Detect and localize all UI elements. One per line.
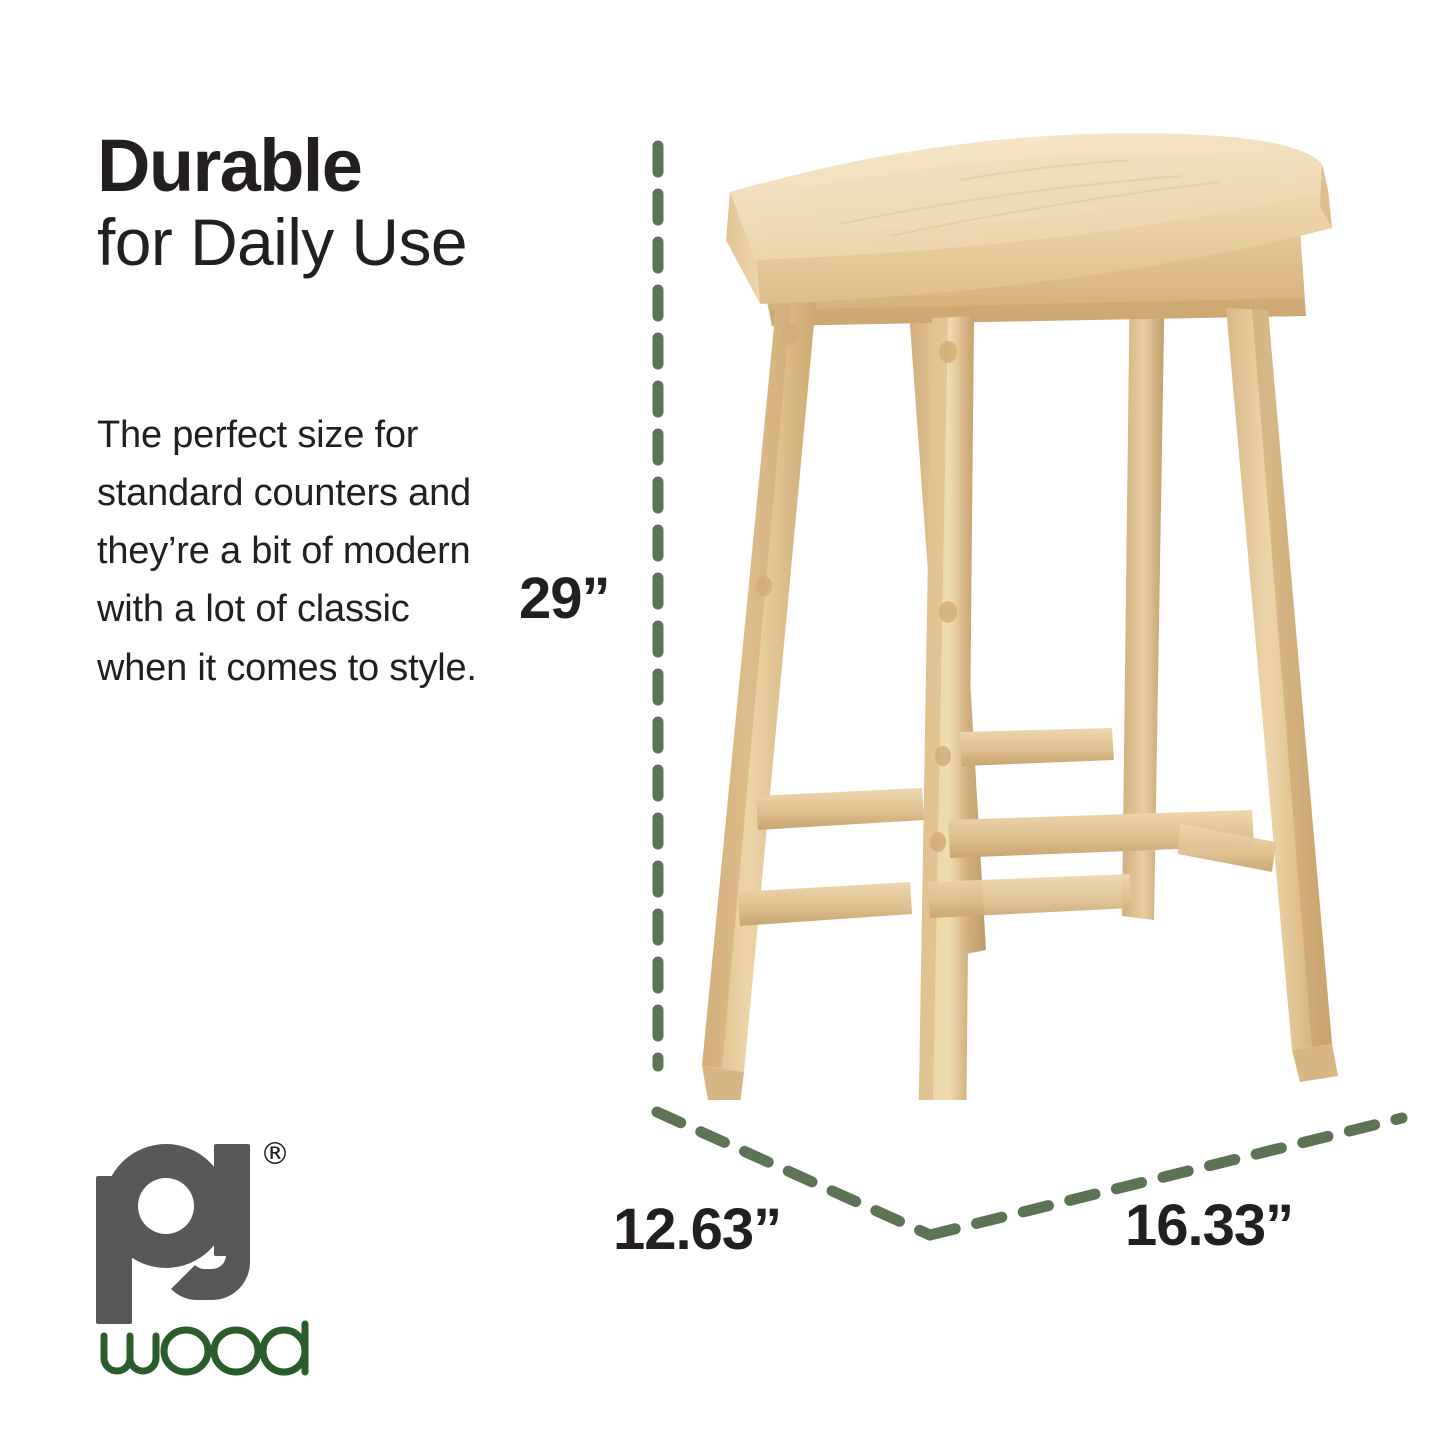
registered-trademark-icon: ® (260, 1140, 290, 1170)
dimension-label-height: 29” (519, 565, 610, 632)
brand-logo: ® (88, 1136, 328, 1386)
body-copy: The perfect size for standard counters a… (97, 406, 497, 697)
page-title: Durable for Daily Use (97, 128, 567, 277)
product-image-stool (660, 120, 1420, 1100)
pj-monogram-icon (88, 1136, 288, 1326)
dimension-label-depth: 16.33” (1125, 1192, 1293, 1259)
product-infographic: Durable for Daily Use The perfect size f… (0, 0, 1445, 1445)
headline-secondary: for Daily Use (97, 209, 567, 276)
logo-wordmark (96, 1318, 316, 1388)
headline-primary: Durable (97, 128, 567, 203)
dimension-label-width: 12.63” (613, 1196, 781, 1263)
